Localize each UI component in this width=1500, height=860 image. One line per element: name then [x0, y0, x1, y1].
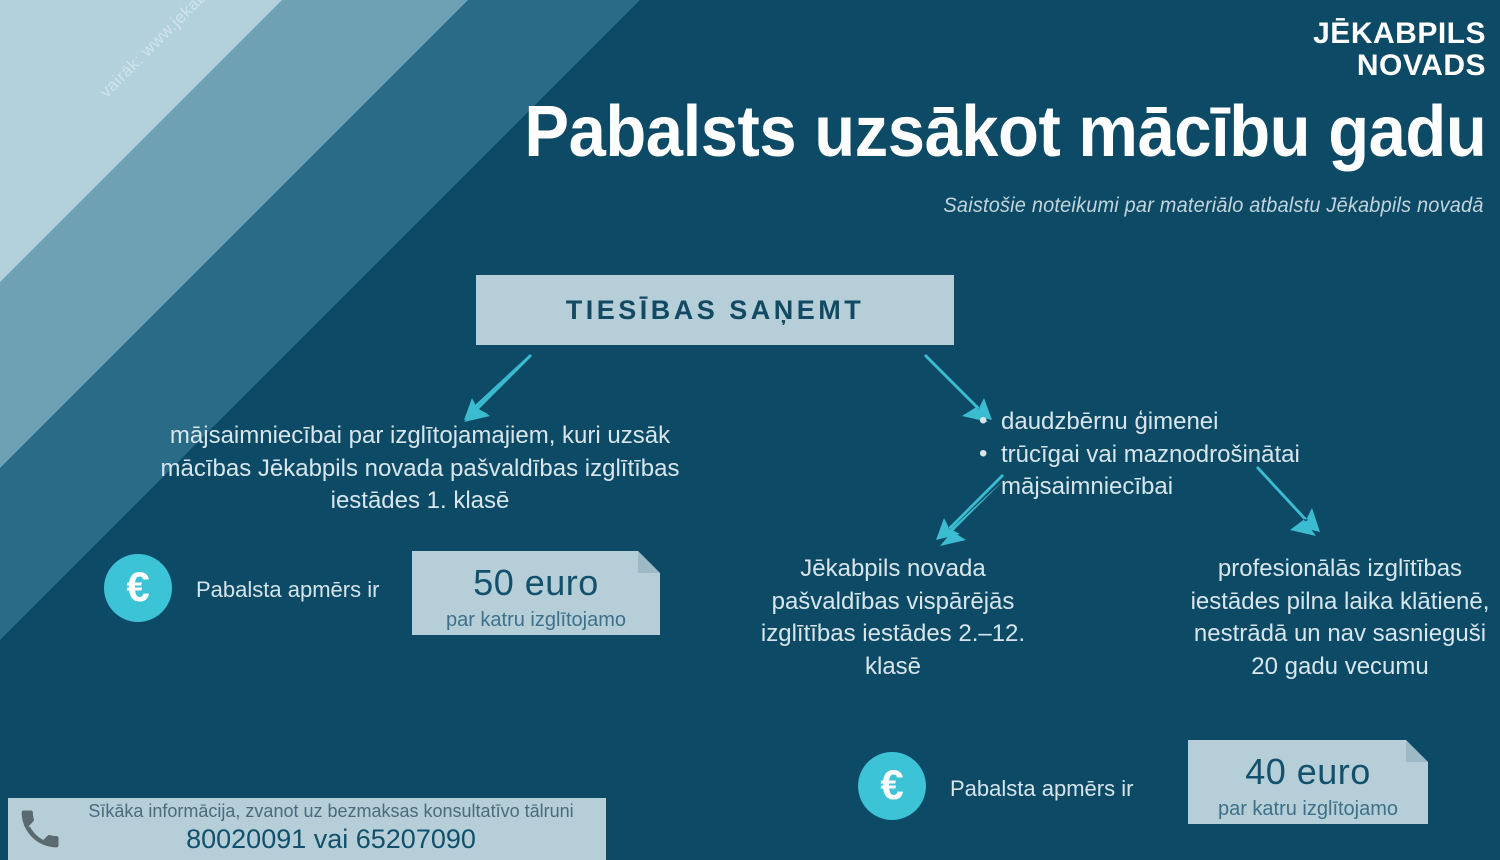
right-branch-bullets: daudzbērnu ģimenei trūcīgai vai maznodro…	[975, 406, 1395, 504]
right-amount-note: par katru izglītojamo	[1188, 790, 1428, 819]
page-subtitle: Saistošie noteikumi par materiālo atbals…	[944, 194, 1484, 218]
list-item: trūcīgai vai maznodrošinātai mājsaimniec…	[1001, 439, 1395, 504]
page-fold-corner-2	[1406, 740, 1428, 762]
infographic-poster: vairāk: www.jekabpils.lv JĒKABPILS NOVAD…	[0, 0, 1500, 860]
page-title: Pabalsts uzsākot mācību gadu	[524, 96, 1486, 168]
list-item: daudzbērnu ģimenei	[1001, 406, 1395, 439]
left-amount-note: par katru izglītojamo	[412, 601, 660, 630]
right-amount-card: 40 euro par katru izglītojamo	[1188, 740, 1428, 824]
headline-label: TIESĪBAS SAŅEMT	[566, 295, 865, 326]
logo-line-2: NOVADS	[1313, 50, 1486, 82]
left-amount-label: Pabalsta apmērs ir	[196, 577, 379, 603]
phone-icon	[14, 803, 66, 855]
euro-icon-2: €	[858, 752, 926, 820]
contact-bar: Sīkāka informācija, zvanot uz bezmaksas …	[8, 798, 606, 860]
logo-line-1: JĒKABPILS	[1313, 18, 1486, 50]
left-amount-value: 50 euro	[412, 551, 660, 601]
brand-logo: JĒKABPILS NOVADS	[1313, 18, 1486, 83]
contact-info-line: Sīkāka informācija, zvanot uz bezmaksas …	[66, 801, 596, 823]
euro-icon: €	[104, 554, 172, 622]
headline-box: TIESĪBAS SAŅEMT	[476, 275, 954, 345]
contact-text: Sīkāka informācija, zvanot uz bezmaksas …	[66, 801, 606, 856]
contact-phone-numbers: 80020091 vai 65207090	[66, 823, 596, 857]
right-branch-sub-right: profesionālās izglītības iestādes pilna …	[1180, 553, 1500, 684]
left-branch-description: mājsaimniecībai par izglītojamajiem, kur…	[140, 420, 700, 518]
left-amount-card: 50 euro par katru izglītojamo	[412, 551, 660, 635]
right-amount-value: 40 euro	[1188, 740, 1428, 790]
right-branch-sub-left: Jēkabpils novada pašvaldības vispārējās …	[748, 553, 1038, 684]
right-amount-label: Pabalsta apmērs ir	[950, 776, 1133, 802]
